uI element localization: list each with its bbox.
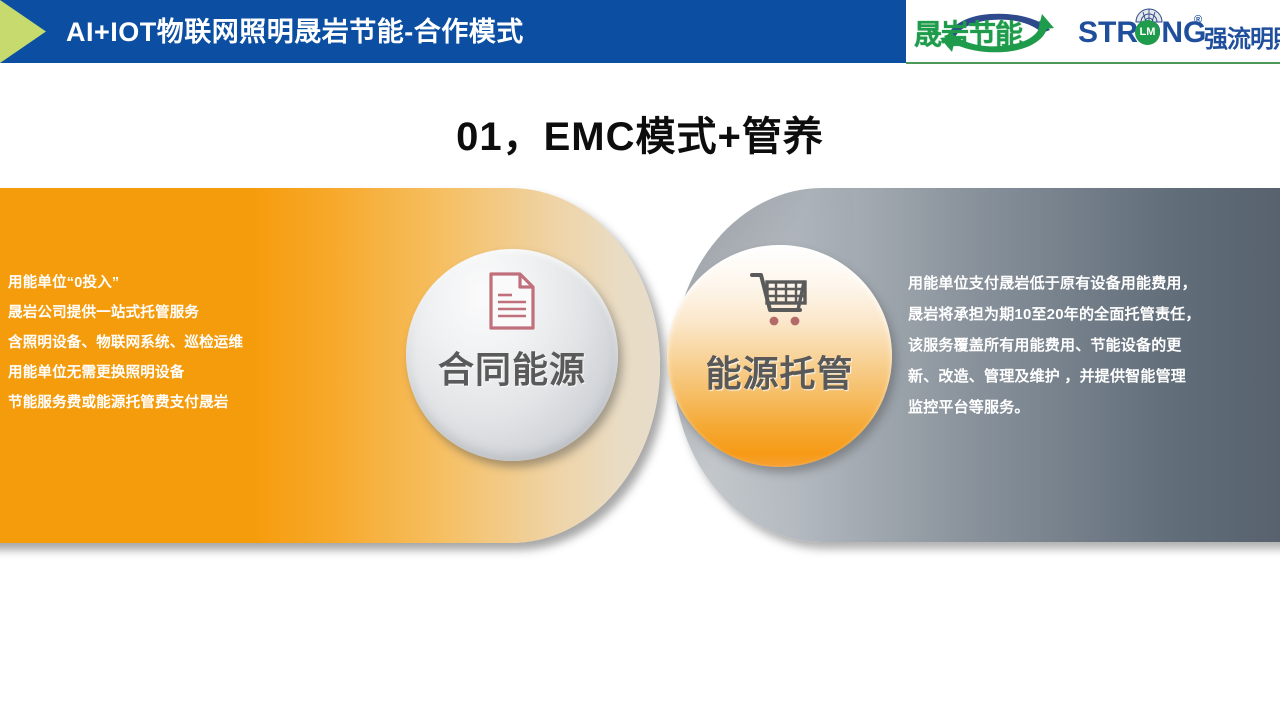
left-text-line: 用能单位无需更换照明设备 [8, 358, 368, 388]
page-title: AI+IOT物联网照明晟岩节能-合作模式 [66, 10, 886, 54]
logo-chinese-name-group: 晟岩节能 [910, 4, 1072, 60]
document-icon [487, 271, 537, 331]
logo-underline [906, 62, 1280, 64]
header: AI+IOT物联网照明晟岩节能-合作模式 晟岩节能 STRONG [0, 0, 1280, 64]
circle-label: 能源托管 [705, 345, 853, 397]
left-text-line: 节能服务费或能源托管费支付晟岩 [8, 388, 368, 418]
left-text-line: 用能单位“0投入” [8, 268, 368, 298]
left-text-line: 含照明设备、物联网系统、巡检运维 [8, 328, 368, 358]
right-text-line: 该服务覆盖所有用能费用、节能设备的更 [908, 330, 1276, 361]
slide-root: AI+IOT物联网照明晟岩节能-合作模式 晟岩节能 STRONG [0, 0, 1280, 720]
logo-lm-badge: LM [1135, 20, 1160, 45]
shopping-cart-icon [750, 270, 810, 328]
company-logo: 晟岩节能 STRONG LM ® 强流明照明 [906, 0, 1280, 63]
right-panel-text: 用能单位支付晟岩低于原有设备用能费用， 晟岩将承担为期10至20年的全面托管责任… [908, 268, 1276, 423]
circle-icon-wrap [750, 267, 810, 331]
registered-mark-icon: ® [1194, 14, 1202, 26]
circle-icon-wrap [487, 269, 537, 333]
logo-slogan: 强流明照明 [1204, 19, 1280, 54]
left-text-line: 晟岩公司提供一站式托管服务 [8, 298, 368, 328]
left-panel-text: 用能单位“0投入” 晟岩公司提供一站式托管服务 含照明设备、物联网系统、巡检运维… [8, 268, 368, 418]
circle-label: 合同能源 [438, 341, 586, 393]
right-text-line: 用能单位支付晟岩低于原有设备用能费用， [908, 268, 1276, 299]
right-text-line: 晟岩将承担为期10至20年的全面托管责任， [908, 299, 1276, 330]
section-title: 01，EMC模式+管养 [0, 104, 1280, 162]
right-text-line: 监控平台等服务。 [908, 392, 1276, 423]
circle-contract-energy[interactable]: 合同能源 [406, 249, 618, 461]
logo-chinese-name: 晟岩节能 [914, 13, 1022, 53]
right-text-line: 新、改造、管理及维护 ，并提供智能管理 [908, 361, 1276, 392]
circle-energy-hosting[interactable]: 能源托管 [667, 245, 892, 467]
